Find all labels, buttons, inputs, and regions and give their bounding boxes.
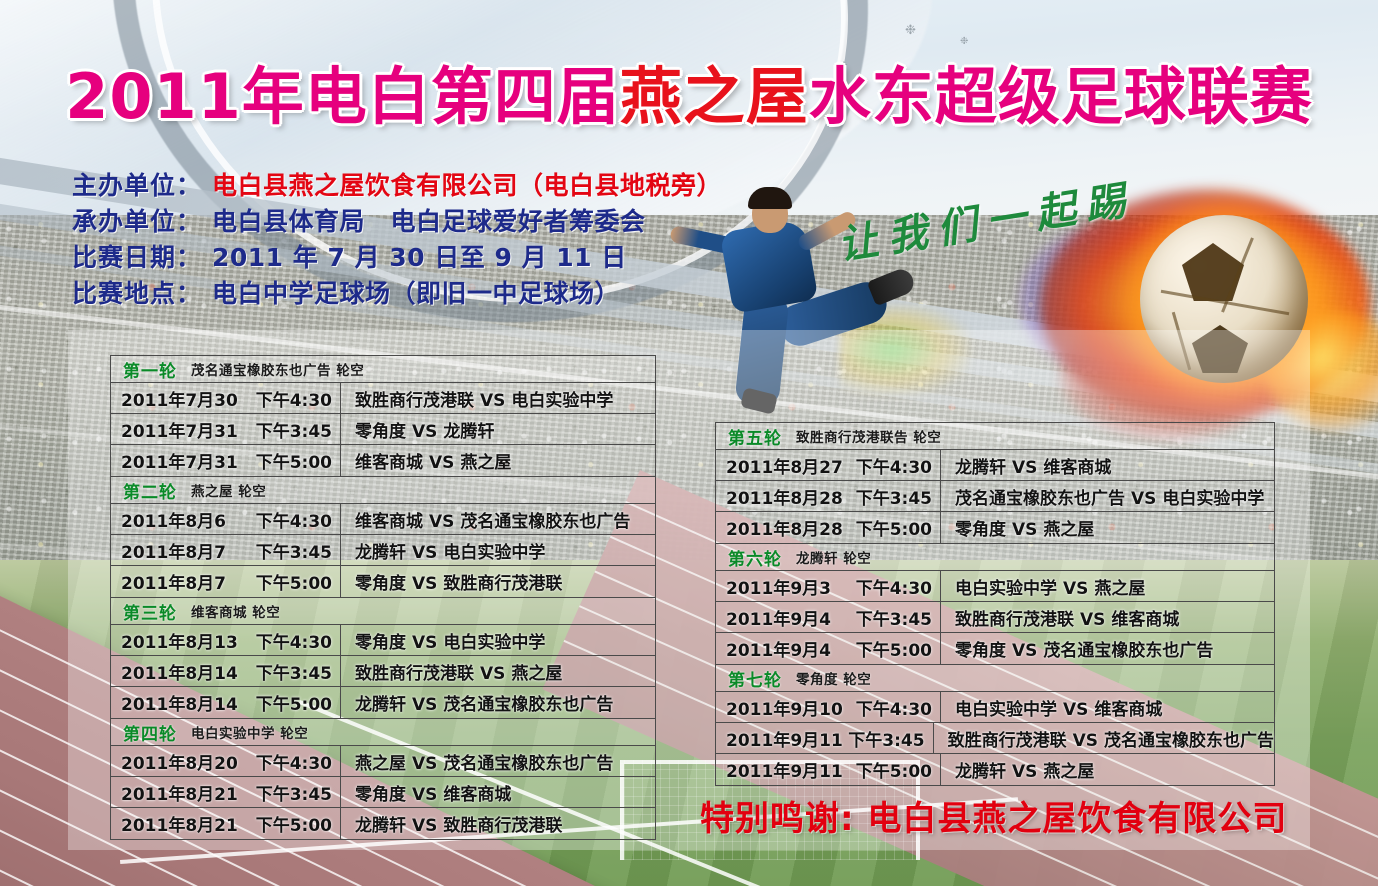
- round-name: 第四轮: [123, 720, 177, 745]
- match-time: 下午5:00: [256, 690, 332, 715]
- match-row: 2011年8月20下午4:30燕之屋VS茂名通宝橡胶东也广告: [111, 746, 655, 777]
- match-date: 2011年8月21: [121, 780, 238, 805]
- match-time: 下午3:45: [856, 605, 932, 630]
- match-date: 2011年7月31: [121, 417, 238, 442]
- round-block: 第四轮电白实验中学 轮空2011年8月20下午4:30燕之屋VS茂名通宝橡胶东也…: [110, 718, 656, 840]
- match-time: 下午5:00: [856, 515, 932, 540]
- match-row: 2011年7月31下午5:00维客商城VS燕之屋: [111, 445, 655, 476]
- home-team: 茂名通宝橡胶东也广告: [955, 489, 1125, 509]
- vs-separator: VS: [474, 664, 511, 684]
- match-datetime: 2011年8月6下午4:30: [111, 504, 341, 534]
- match-row: 2011年9月11下午3:45致胜商行茂港联VS茂名通宝橡胶东也广告: [716, 723, 1274, 754]
- match-row: 2011年8月27下午4:30龙腾轩VS维客商城: [716, 450, 1274, 481]
- bird-icon: ❉: [905, 22, 916, 38]
- poster-title: 2011年电白第四届燕之屋水东超级足球联赛: [0, 66, 1378, 128]
- info-row-organizer: 主办单位： 电白县燕之屋饮食有限公司（电白县地税旁）: [72, 166, 722, 202]
- match-row: 2011年9月10下午4:30电白实验中学VS维客商城: [716, 692, 1274, 723]
- round-bye-team: 电白实验中学 轮空: [191, 722, 308, 742]
- away-team: 燕之屋: [1094, 579, 1145, 599]
- round-header: 第五轮致胜商行茂港联告 轮空: [716, 423, 1274, 450]
- match-time: 下午3:45: [256, 538, 332, 563]
- match-teams: 维客商城VS燕之屋: [341, 448, 655, 473]
- match-datetime: 2011年9月11下午3:45: [716, 723, 934, 753]
- match-date: 2011年9月3: [726, 574, 831, 599]
- away-team: 燕之屋: [1043, 762, 1094, 782]
- vs-separator: VS: [474, 391, 511, 411]
- home-team: 维客商城: [355, 512, 423, 532]
- match-datetime: 2011年8月20下午4:30: [111, 746, 341, 776]
- match-time: 下午5:00: [256, 811, 332, 836]
- match-time: 下午3:45: [848, 726, 924, 751]
- away-team: 致胜商行茂港联: [443, 816, 562, 836]
- away-team: 燕之屋: [460, 453, 511, 473]
- round-bye-team: 龙腾轩 轮空: [796, 547, 871, 567]
- info-label-venue: 比赛地点：: [72, 274, 212, 310]
- round-name: 第一轮: [123, 357, 177, 382]
- info-value-venue: 电白中学足球场（即旧一中足球场）: [212, 274, 620, 310]
- away-team: 茂名通宝橡胶东也广告: [443, 754, 613, 774]
- match-date: 2011年8月27: [726, 453, 843, 478]
- match-time: 下午5:00: [856, 757, 932, 782]
- match-row: 2011年7月30下午4:30致胜商行茂港联VS电白实验中学: [111, 383, 655, 414]
- vs-separator: VS: [406, 695, 443, 715]
- home-team: 致胜商行茂港联: [955, 610, 1074, 630]
- vs-separator: VS: [1074, 610, 1111, 630]
- schedule-table-right: 第五轮致胜商行茂港联告 轮空2011年8月27下午4:30龙腾轩VS维客商城20…: [715, 422, 1275, 786]
- match-datetime: 2011年7月31下午5:00: [111, 445, 341, 476]
- round-block: 第六轮龙腾轩 轮空2011年9月3下午4:30电白实验中学VS燕之屋2011年9…: [715, 543, 1275, 664]
- info-label-host: 承办单位：: [72, 202, 212, 238]
- match-date: 2011年8月6: [121, 507, 226, 532]
- match-date: 2011年8月21: [121, 811, 238, 836]
- away-team: 燕之屋: [1043, 520, 1094, 540]
- match-teams: 电白实验中学VS燕之屋: [941, 574, 1274, 599]
- home-team: 零角度: [955, 520, 1006, 540]
- away-team: 电白实验中学: [443, 633, 545, 653]
- match-time: 下午3:45: [256, 780, 332, 805]
- match-time: 下午3:45: [856, 484, 932, 509]
- match-datetime: 2011年8月28下午5:00: [716, 512, 941, 543]
- home-team: 致胜商行茂港联: [948, 731, 1067, 751]
- away-team: 电白实验中学: [443, 543, 545, 563]
- info-value-organizer: 电白县燕之屋饮食有限公司（电白县地税旁）: [212, 166, 722, 202]
- away-team: 维客商城: [443, 785, 511, 805]
- match-teams: 龙腾轩VS致胜商行茂港联: [341, 811, 655, 836]
- match-date: 2011年8月13: [121, 628, 238, 653]
- match-datetime: 2011年7月31下午3:45: [111, 414, 341, 444]
- info-label-dates: 比赛日期：: [72, 238, 212, 274]
- round-header: 第六轮龙腾轩 轮空: [716, 544, 1274, 571]
- match-teams: 零角度VS致胜商行茂港联: [341, 569, 655, 594]
- match-teams: 龙腾轩VS茂名通宝橡胶东也广告: [341, 690, 655, 715]
- home-team: 零角度: [955, 641, 1006, 661]
- match-time: 下午5:00: [256, 448, 332, 473]
- match-row: 2011年8月21下午3:45零角度VS维客商城: [111, 777, 655, 808]
- match-datetime: 2011年8月13下午4:30: [111, 625, 341, 655]
- match-datetime: 2011年9月11下午5:00: [716, 754, 941, 785]
- player-hair: [748, 187, 792, 209]
- home-team: 电白实验中学: [955, 579, 1057, 599]
- away-team: 茂名通宝橡胶东也广告: [1043, 641, 1213, 661]
- match-time: 下午4:30: [856, 453, 932, 478]
- match-row: 2011年8月7下午5:00零角度VS致胜商行茂港联: [111, 566, 655, 597]
- round-block: 第三轮维客商城 轮空2011年8月13下午4:30零角度VS电白实验中学2011…: [110, 597, 656, 718]
- round-block: 第二轮燕之屋 轮空2011年8月6下午4:30维客商城VS茂名通宝橡胶东也广告2…: [110, 476, 656, 597]
- match-date: 2011年9月4: [726, 605, 831, 630]
- round-bye-team: 零角度 轮空: [796, 668, 871, 688]
- match-row: 2011年8月7下午3:45龙腾轩VS电白实验中学: [111, 535, 655, 566]
- home-team: 龙腾轩: [955, 458, 1006, 478]
- away-team: 维客商城: [1043, 458, 1111, 478]
- round-bye-team: 维客商城 轮空: [191, 601, 280, 621]
- away-team: 燕之屋: [511, 664, 562, 684]
- match-datetime: 2011年8月7下午3:45: [111, 535, 341, 565]
- match-date: 2011年8月20: [121, 749, 238, 774]
- match-teams: 零角度VS茂名通宝橡胶东也广告: [941, 636, 1274, 661]
- round-bye-team: 茂名通宝橡胶东也广告 轮空: [191, 359, 364, 379]
- away-team: 电白实验中学: [1162, 489, 1264, 509]
- match-teams: 茂名通宝橡胶东也广告VS电白实验中学: [941, 484, 1274, 509]
- home-team: 龙腾轩: [355, 695, 406, 715]
- match-date: 2011年8月28: [726, 515, 843, 540]
- match-row: 2011年8月14下午3:45致胜商行茂港联VS燕之屋: [111, 656, 655, 687]
- match-time: 下午4:30: [256, 749, 332, 774]
- vs-separator: VS: [1057, 579, 1094, 599]
- vs-separator: VS: [1006, 458, 1043, 478]
- match-teams: 维客商城VS茂名通宝橡胶东也广告: [341, 507, 655, 532]
- match-datetime: 2011年7月30下午4:30: [111, 383, 341, 413]
- match-teams: 致胜商行茂港联VS电白实验中学: [341, 386, 655, 411]
- event-info-block: 主办单位： 电白县燕之屋饮食有限公司（电白县地税旁） 承办单位： 电白县体育局 …: [72, 166, 722, 310]
- schedule-table-left: 第一轮茂名通宝橡胶东也广告 轮空2011年7月30下午4:30致胜商行茂港联VS…: [110, 355, 656, 840]
- vs-separator: VS: [1006, 641, 1043, 661]
- away-team: 维客商城: [1094, 700, 1162, 720]
- match-teams: 龙腾轩VS维客商城: [941, 453, 1274, 478]
- vs-separator: VS: [406, 633, 443, 653]
- home-team: 零角度: [355, 633, 406, 653]
- vs-separator: VS: [1006, 762, 1043, 782]
- match-row: 2011年8月6下午4:30维客商城VS茂名通宝橡胶东也广告: [111, 504, 655, 535]
- ball-pentagon: [1182, 243, 1244, 301]
- match-teams: 零角度VS燕之屋: [941, 515, 1274, 540]
- vs-separator: VS: [423, 512, 460, 532]
- home-team: 零角度: [355, 422, 406, 442]
- match-date: 2011年9月11: [726, 757, 843, 782]
- away-team: 电白实验中学: [511, 391, 613, 411]
- round-header: 第七轮零角度 轮空: [716, 665, 1274, 692]
- match-teams: 致胜商行茂港联VS维客商城: [941, 605, 1274, 630]
- special-thanks-text: 特别鸣谢: 电白县燕之屋饮食有限公司: [700, 791, 1287, 840]
- match-row: 2011年8月28下午3:45茂名通宝橡胶东也广告VS电白实验中学: [716, 481, 1274, 512]
- match-date: 2011年7月31: [121, 448, 238, 473]
- match-date: 2011年9月4: [726, 636, 831, 661]
- match-teams: 龙腾轩VS燕之屋: [941, 757, 1274, 782]
- match-date: 2011年7月30: [121, 386, 238, 411]
- match-datetime: 2011年8月21下午5:00: [111, 808, 341, 839]
- match-row: 2011年7月31下午3:45零角度VS龙腾轩: [111, 414, 655, 445]
- round-header: 第二轮燕之屋 轮空: [111, 477, 655, 504]
- match-teams: 燕之屋VS茂名通宝橡胶东也广告: [341, 749, 655, 774]
- round-name: 第二轮: [123, 478, 177, 503]
- vs-separator: VS: [1006, 520, 1043, 540]
- match-datetime: 2011年8月14下午5:00: [111, 687, 341, 718]
- match-teams: 零角度VS维客商城: [341, 780, 655, 805]
- info-row-host: 承办单位： 电白县体育局 电白足球爱好者筹委会: [72, 202, 722, 238]
- match-date: 2011年9月10: [726, 695, 843, 720]
- home-team: 零角度: [355, 574, 406, 594]
- home-team: 龙腾轩: [355, 816, 406, 836]
- round-header: 第一轮茂名通宝橡胶东也广告 轮空: [111, 356, 655, 383]
- match-time: 下午5:00: [256, 569, 332, 594]
- match-row: 2011年9月4下午5:00零角度VS茂名通宝橡胶东也广告: [716, 633, 1274, 664]
- match-datetime: 2011年9月10下午4:30: [716, 692, 941, 722]
- vs-separator: VS: [1057, 700, 1094, 720]
- match-date: 2011年8月14: [121, 690, 238, 715]
- poster-root: ❉ ❉ ❉ 2011年电白第四届燕之屋水东超级足球联赛: [0, 0, 1378, 886]
- match-time: 下午3:45: [256, 659, 332, 684]
- match-teams: 龙腾轩VS电白实验中学: [341, 538, 655, 563]
- match-datetime: 2011年8月28下午3:45: [716, 481, 941, 511]
- vs-separator: VS: [1125, 489, 1162, 509]
- vs-separator: VS: [406, 816, 443, 836]
- title-part-3: 水东超级足球联赛: [809, 66, 1313, 128]
- match-row: 2011年8月14下午5:00龙腾轩VS茂名通宝橡胶东也广告: [111, 687, 655, 718]
- info-value-host: 电白县体育局 电白足球爱好者筹委会: [212, 202, 646, 238]
- player-shoe: [867, 266, 918, 307]
- bird-icon: ❉: [960, 36, 968, 47]
- vs-separator: VS: [406, 574, 443, 594]
- home-team: 燕之屋: [355, 754, 406, 774]
- info-value-dates: 2011 年 7 月 30 日至 9 月 11 日: [212, 238, 627, 274]
- round-header: 第三轮维客商城 轮空: [111, 598, 655, 625]
- match-date: 2011年8月7: [121, 569, 226, 594]
- match-datetime: 2011年8月7下午5:00: [111, 566, 341, 597]
- away-team: 茂名通宝橡胶东也广告: [443, 695, 613, 715]
- vs-separator: VS: [423, 453, 460, 473]
- round-bye-team: 燕之屋 轮空: [191, 480, 266, 500]
- match-datetime: 2011年9月4下午3:45: [716, 602, 941, 632]
- match-row: 2011年8月13下午4:30零角度VS电白实验中学: [111, 625, 655, 656]
- home-team: 致胜商行茂港联: [355, 664, 474, 684]
- match-row: 2011年9月4下午3:45致胜商行茂港联VS维客商城: [716, 602, 1274, 633]
- round-block: 第七轮零角度 轮空2011年9月10下午4:30电白实验中学VS维客商城2011…: [715, 664, 1275, 786]
- match-date: 2011年8月28: [726, 484, 843, 509]
- round-name: 第七轮: [728, 666, 782, 691]
- title-part-2: 燕之屋: [620, 66, 809, 128]
- match-time: 下午4:30: [256, 507, 332, 532]
- match-time: 下午3:45: [256, 417, 332, 442]
- vs-separator: VS: [406, 785, 443, 805]
- info-row-venue: 比赛地点： 电白中学足球场（即旧一中足球场）: [72, 274, 722, 310]
- match-teams: 零角度VS龙腾轩: [341, 417, 655, 442]
- round-block: 第一轮茂名通宝橡胶东也广告 轮空2011年7月30下午4:30致胜商行茂港联VS…: [110, 355, 656, 476]
- round-name: 第六轮: [728, 545, 782, 570]
- match-date: 2011年8月14: [121, 659, 238, 684]
- match-datetime: 2011年8月21下午3:45: [111, 777, 341, 807]
- match-teams: 电白实验中学VS维客商城: [941, 695, 1274, 720]
- vs-separator: VS: [406, 754, 443, 774]
- match-time: 下午4:30: [856, 695, 932, 720]
- round-name: 第三轮: [123, 599, 177, 624]
- match-time: 下午4:30: [256, 628, 332, 653]
- vs-separator: VS: [406, 422, 443, 442]
- home-team: 龙腾轩: [955, 762, 1006, 782]
- match-datetime: 2011年9月3下午4:30: [716, 571, 941, 601]
- round-name: 第五轮: [728, 424, 782, 449]
- round-block: 第五轮致胜商行茂港联告 轮空2011年8月27下午4:30龙腾轩VS维客商城20…: [715, 422, 1275, 543]
- home-team: 维客商城: [355, 453, 423, 473]
- away-team: 龙腾轩: [443, 422, 494, 442]
- away-team: 茂名通宝橡胶东也广告: [460, 512, 630, 532]
- match-row: 2011年8月28下午5:00零角度VS燕之屋: [716, 512, 1274, 543]
- info-label-organizer: 主办单位：: [72, 166, 212, 202]
- match-time: 下午5:00: [856, 636, 932, 661]
- vs-separator: VS: [1067, 731, 1104, 751]
- vs-separator: VS: [406, 543, 443, 563]
- home-team: 零角度: [355, 785, 406, 805]
- away-team: 茂名通宝橡胶东也广告: [1104, 731, 1274, 751]
- match-time: 下午4:30: [856, 574, 932, 599]
- match-date: 2011年9月11: [726, 726, 843, 751]
- home-team: 龙腾轩: [355, 543, 406, 563]
- match-row: 2011年8月21下午5:00龙腾轩VS致胜商行茂港联: [111, 808, 655, 839]
- match-teams: 致胜商行茂港联VS燕之屋: [341, 659, 655, 684]
- away-team: 维客商城: [1111, 610, 1179, 630]
- home-team: 致胜商行茂港联: [355, 391, 474, 411]
- match-datetime: 2011年9月4下午5:00: [716, 633, 941, 664]
- title-part-1: 2011年电白第四届: [65, 66, 620, 128]
- match-row: 2011年9月11下午5:00龙腾轩VS燕之屋: [716, 754, 1274, 785]
- home-team: 电白实验中学: [955, 700, 1057, 720]
- away-team: 致胜商行茂港联: [443, 574, 562, 594]
- info-row-dates: 比赛日期： 2011 年 7 月 30 日至 9 月 11 日: [72, 238, 722, 274]
- match-datetime: 2011年8月27下午4:30: [716, 450, 941, 480]
- round-header: 第四轮电白实验中学 轮空: [111, 719, 655, 746]
- match-time: 下午4:30: [256, 386, 332, 411]
- match-teams: 零角度VS电白实验中学: [341, 628, 655, 653]
- round-bye-team: 致胜商行茂港联告 轮空: [796, 426, 941, 446]
- match-row: 2011年9月3下午4:30电白实验中学VS燕之屋: [716, 571, 1274, 602]
- match-teams: 致胜商行茂港联VS茂名通宝橡胶东也广告: [934, 726, 1274, 751]
- match-datetime: 2011年8月14下午3:45: [111, 656, 341, 686]
- match-date: 2011年8月7: [121, 538, 226, 563]
